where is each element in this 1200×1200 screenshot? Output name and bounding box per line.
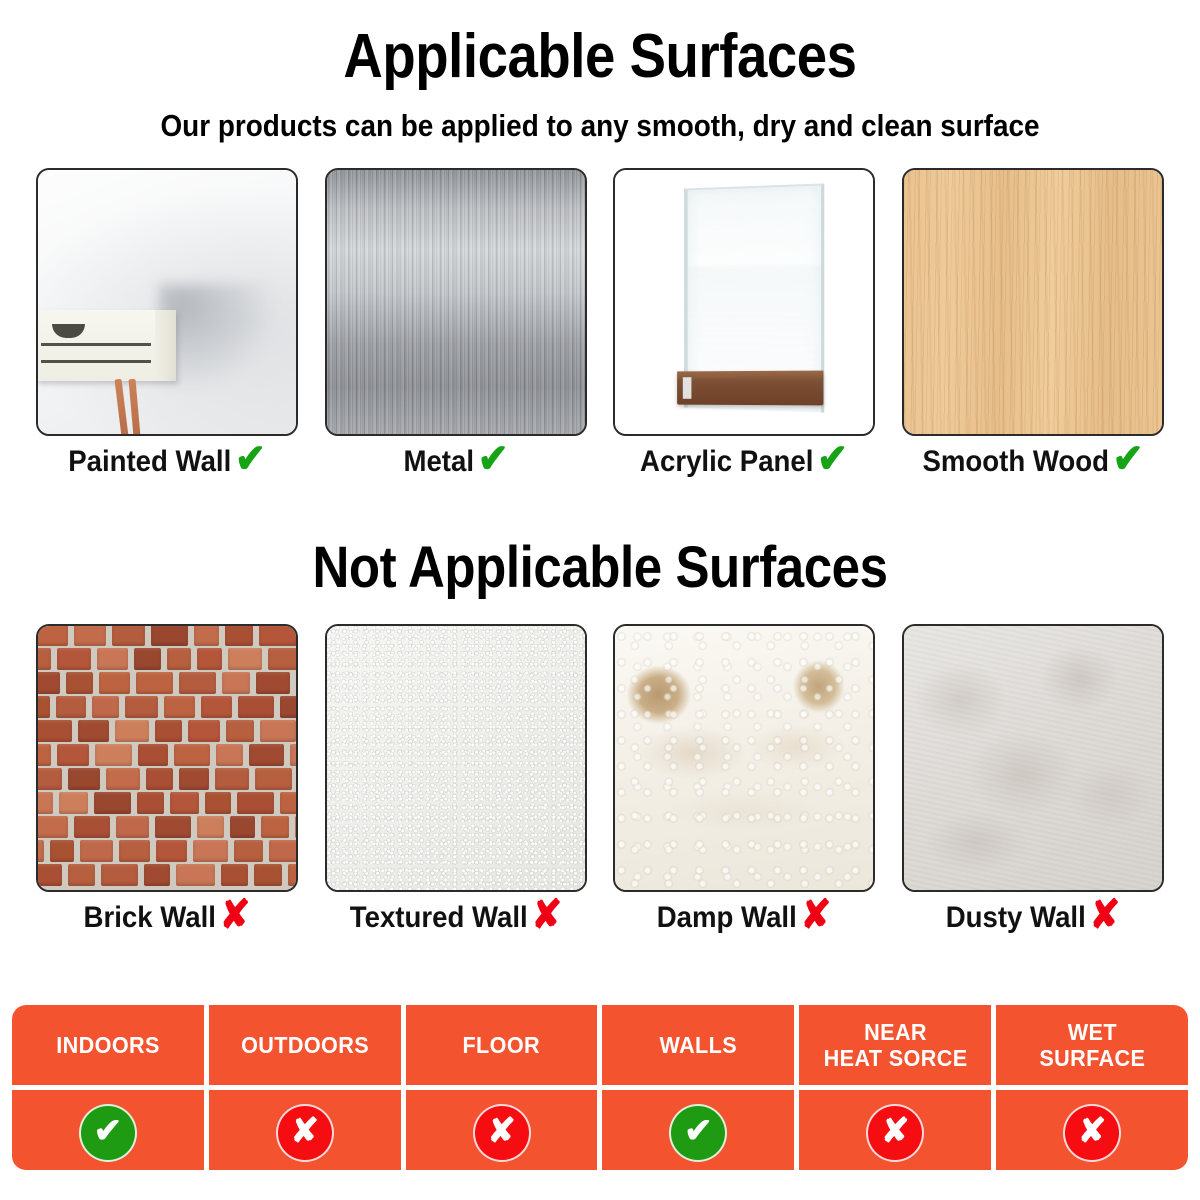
usage-table-header-label: OUTDOORS (241, 1032, 369, 1058)
surface-image-brick-wall (36, 624, 298, 892)
surface-label-row: Dusty Wall ✘ (912, 901, 1153, 935)
surface-card-acrylic-panel[interactable]: Acrylic Panel ✔ (613, 168, 875, 479)
brick (106, 768, 140, 790)
drawer-line (41, 360, 150, 363)
surface-image-painted-wall (36, 168, 298, 436)
dusty-wall-texture (904, 626, 1162, 890)
surface-label-row: Painted Wall ✔ (46, 445, 287, 479)
brick (38, 816, 68, 838)
brick (280, 696, 296, 718)
brick (256, 672, 290, 694)
brick (254, 864, 282, 886)
table-side-panel (155, 310, 173, 381)
surface-label-row: Brick Wall ✘ (46, 901, 287, 935)
usage-table-status-floor[interactable]: ✘ (406, 1090, 598, 1170)
brick (80, 840, 112, 862)
surface-card-smooth-wood[interactable]: Smooth Wood ✔ (902, 168, 1164, 479)
brick (222, 672, 250, 694)
brick (255, 768, 292, 790)
brick (66, 672, 93, 694)
brick (59, 792, 88, 814)
brick (68, 768, 100, 790)
badge-glyph: ✔ (684, 1114, 713, 1148)
surface-image-smooth-wood (902, 168, 1164, 436)
brick (194, 626, 219, 646)
brick (57, 744, 89, 766)
usage-table-header-label: WALLS (660, 1032, 738, 1058)
brick (295, 816, 296, 838)
brick-row (38, 840, 296, 866)
surface-label-row: Acrylic Panel ✔ (624, 445, 865, 479)
brick (164, 696, 195, 718)
brick (99, 672, 130, 694)
usage-table-header-label: FLOOR (463, 1032, 541, 1058)
brick (74, 626, 106, 646)
textured-wall-texture (327, 626, 585, 890)
surface-image-metal (325, 168, 587, 436)
brick (151, 626, 188, 646)
brick-row (38, 768, 296, 794)
drawer-handle-icon (52, 324, 85, 338)
brick (193, 840, 229, 862)
brick (261, 816, 289, 838)
brick (288, 864, 296, 886)
surface-label: Smooth Wood (922, 445, 1109, 479)
surface-card-textured-wall[interactable]: Textured Wall ✘ (325, 624, 587, 935)
usage-table-header-outdoors[interactable]: OUTDOORS (209, 1005, 401, 1085)
surface-image-dusty-wall (902, 624, 1164, 892)
brick (112, 626, 146, 646)
brick (56, 696, 86, 718)
smooth-wood-texture (904, 170, 1162, 434)
brick (215, 768, 250, 790)
brick (146, 768, 173, 790)
usage-table-status-near[interactable]: ✘ (799, 1090, 991, 1170)
brick-row (38, 864, 296, 890)
cross-badge-icon: ✘ (1063, 1104, 1121, 1162)
usage-table-status-walls[interactable]: ✔ (602, 1090, 794, 1170)
cross-icon: ✘ (1089, 901, 1120, 929)
brick-row (38, 720, 296, 746)
brick (259, 626, 296, 646)
surface-label-row: Textured Wall ✘ (335, 901, 576, 935)
brick (38, 720, 72, 742)
check-icon: ✔ (1113, 445, 1144, 473)
surface-label: Acrylic Panel (640, 445, 813, 479)
check-icon: ✔ (477, 445, 508, 473)
brick (268, 648, 296, 670)
surface-label-row: Smooth Wood ✔ (912, 445, 1153, 479)
brick (74, 816, 111, 838)
usage-table-status-indoors[interactable]: ✔ (12, 1090, 204, 1170)
brick (280, 792, 296, 814)
brick (179, 768, 209, 790)
table-leg (114, 378, 128, 436)
brick (238, 696, 274, 718)
applicable-surfaces-row: Painted Wall ✔ Metal ✔ Acrylic Panel ✔ (0, 168, 1200, 479)
surface-card-damp-wall[interactable]: Damp Wall ✘ (613, 624, 875, 935)
brick (95, 744, 132, 766)
surface-image-damp-wall (613, 624, 875, 892)
brick (138, 744, 168, 766)
brick (216, 744, 243, 766)
usage-table: INDOORSOUTDOORSFLOORWALLSNEARHEAT SORCEW… (12, 1005, 1188, 1170)
damp-wall-texture (615, 626, 873, 890)
brick (116, 816, 149, 838)
brick (221, 864, 249, 886)
brick (137, 792, 163, 814)
section-title-not-applicable: Not Applicable Surfaces (72, 539, 1128, 597)
surface-label: Textured Wall (349, 901, 527, 935)
usage-table-header-label: NEARHEAT SORCE (823, 1019, 967, 1071)
brick (115, 720, 149, 742)
surface-label: Painted Wall (68, 445, 231, 479)
brick-row (38, 626, 296, 650)
usage-table-header-walls[interactable]: WALLS (602, 1005, 794, 1085)
brick (144, 864, 170, 886)
brick (155, 720, 182, 742)
brick (249, 744, 284, 766)
acrylic-panel-texture (615, 170, 873, 434)
brick (237, 792, 274, 814)
wall-shadow (159, 284, 275, 395)
brick (38, 744, 51, 766)
wooden-base (677, 370, 823, 405)
cross-badge-icon: ✘ (473, 1104, 531, 1162)
brick (170, 792, 199, 814)
page-subtitle: Our products can be applied to any smoot… (60, 88, 1140, 144)
brick (260, 720, 295, 742)
brick-row (38, 696, 296, 722)
surface-label-row: Damp Wall ✘ (624, 901, 865, 935)
usage-table-header-label: WETSURFACE (1039, 1019, 1145, 1071)
brick (179, 672, 217, 694)
brick (269, 840, 296, 862)
page-title: Applicable Surfaces (72, 0, 1128, 88)
painted-wall-texture (38, 170, 296, 434)
brick (94, 792, 132, 814)
brick-row (38, 792, 296, 818)
brick-wall-texture (38, 626, 296, 890)
brick (167, 648, 191, 670)
surface-label: Metal (403, 445, 474, 479)
brick (38, 864, 62, 886)
base-slot (682, 377, 690, 399)
brick (38, 648, 51, 670)
usage-table-header-wet[interactable]: WETSURFACE (996, 1005, 1188, 1085)
cross-badge-icon: ✘ (276, 1104, 334, 1162)
brick (174, 744, 210, 766)
usage-table-header-label: INDOORS (56, 1032, 160, 1058)
check-badge-icon: ✔ (669, 1104, 727, 1162)
brick (38, 626, 68, 646)
cross-icon: ✘ (531, 901, 562, 929)
brick (205, 792, 231, 814)
brick (136, 672, 173, 694)
brushed-metal-texture (327, 170, 585, 434)
brick (156, 840, 187, 862)
usage-table-header-floor[interactable]: FLOOR (406, 1005, 598, 1085)
brick (230, 816, 255, 838)
damp-blisters (615, 626, 873, 890)
cross-badge-icon: ✘ (866, 1104, 924, 1162)
brick (101, 864, 139, 886)
brick (38, 672, 60, 694)
wooden-base-top (677, 370, 823, 378)
check-icon: ✔ (817, 445, 848, 473)
cross-icon: ✘ (801, 901, 832, 929)
not-applicable-surfaces-row: Brick Wall ✘ Textured Wall ✘ Damp Wall ✘… (0, 624, 1200, 935)
console-table (36, 310, 176, 381)
brick (155, 816, 191, 838)
brick (38, 768, 62, 790)
surface-label: Damp Wall (657, 901, 797, 935)
brick (38, 840, 44, 862)
brick (119, 840, 150, 862)
surface-label: Brick Wall (84, 901, 216, 935)
brick (234, 840, 263, 862)
surface-label: Dusty Wall (946, 901, 1086, 935)
surface-image-textured-wall (325, 624, 587, 892)
brick (290, 744, 296, 766)
surface-card-brick-wall[interactable]: Brick Wall ✘ (36, 624, 298, 935)
brick (228, 648, 261, 670)
check-badge-icon: ✔ (79, 1104, 137, 1162)
brick (38, 792, 53, 814)
brick-row (38, 744, 296, 770)
brick (78, 720, 109, 742)
brick (134, 648, 160, 670)
usage-table-status-wet[interactable]: ✘ (996, 1090, 1188, 1170)
badge-glyph: ✘ (290, 1114, 319, 1148)
brick (188, 720, 221, 742)
surface-card-painted-wall[interactable]: Painted Wall ✔ (36, 168, 298, 479)
brick (57, 648, 90, 670)
surface-card-dusty-wall[interactable]: Dusty Wall ✘ (902, 624, 1164, 935)
table-leg (128, 378, 140, 436)
brick-row (38, 672, 296, 698)
badge-glyph: ✔ (94, 1114, 123, 1148)
brick (201, 696, 232, 718)
badge-glyph: ✘ (487, 1114, 516, 1148)
brick (92, 696, 119, 718)
surface-card-metal[interactable]: Metal ✔ (325, 168, 587, 479)
brick (225, 626, 252, 646)
brick (38, 696, 50, 718)
brick (197, 816, 224, 838)
brick (50, 840, 74, 862)
cross-icon: ✘ (220, 901, 251, 929)
badge-glyph: ✘ (881, 1114, 910, 1148)
drawer-line (41, 343, 150, 346)
badge-glyph: ✘ (1078, 1114, 1107, 1148)
usage-table-status-outdoors[interactable]: ✘ (209, 1090, 401, 1170)
usage-table-header-indoors[interactable]: INDOORS (12, 1005, 204, 1085)
brick (125, 696, 158, 718)
brick (68, 864, 95, 886)
brick-row (38, 648, 296, 674)
surface-label-row: Metal ✔ (335, 445, 576, 479)
brick (97, 648, 129, 670)
usage-table-header-near[interactable]: NEARHEAT SORCE (799, 1005, 991, 1085)
brick (226, 720, 254, 742)
brick (197, 648, 222, 670)
brick (176, 864, 215, 886)
brick-row (38, 816, 296, 842)
surface-image-acrylic-panel (613, 168, 875, 436)
check-icon: ✔ (235, 445, 266, 473)
